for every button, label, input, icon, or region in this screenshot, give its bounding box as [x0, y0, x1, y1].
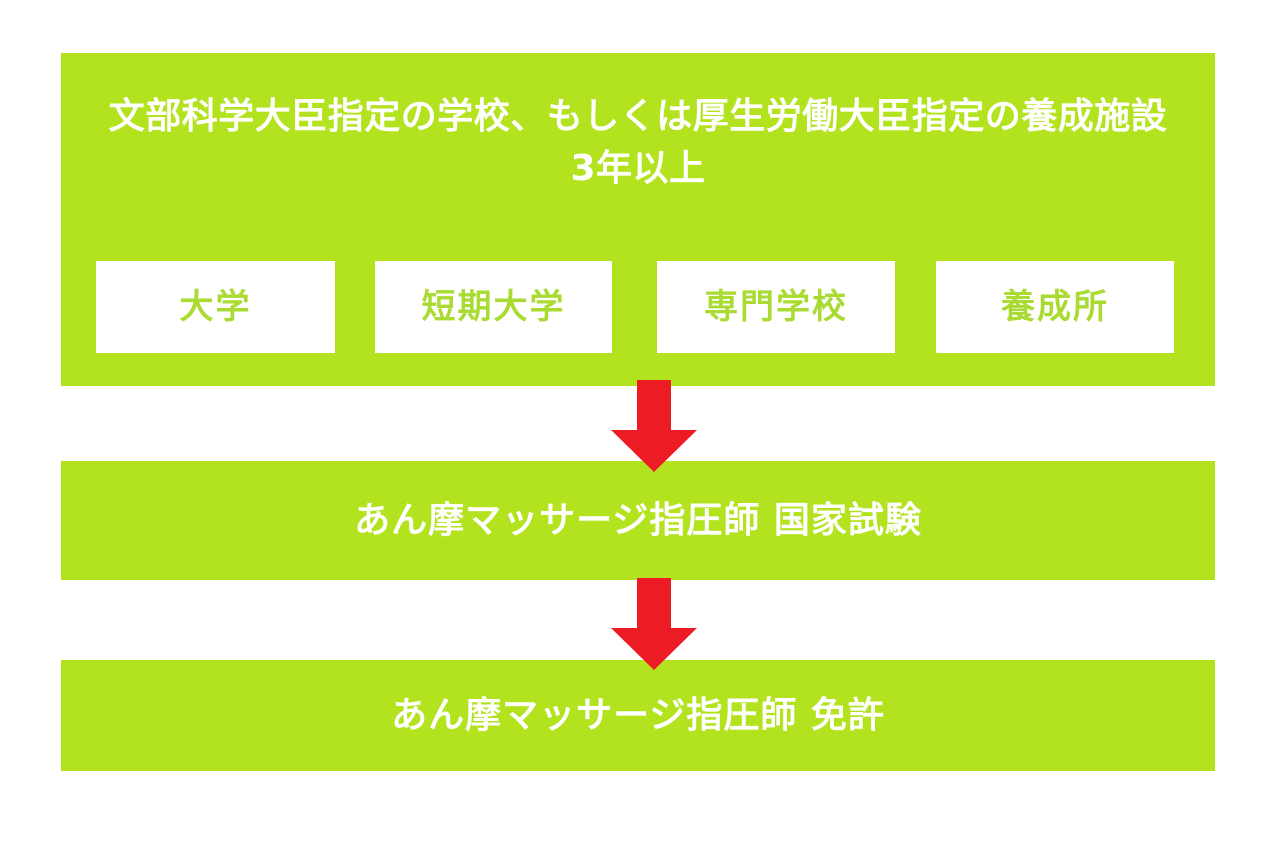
national-exam-label: あん摩マッサージ指圧師 国家試験: [61, 503, 1215, 539]
school-option-label: 養成所: [1001, 290, 1109, 324]
school-option-label: 専門学校: [704, 290, 848, 324]
school-option-university[interactable]: 大学: [96, 261, 335, 353]
arrow-down-icon: [611, 380, 697, 472]
school-requirement-heading: 文部科学大臣指定の学校、もしくは厚生労働大臣指定の養成施設 3年以上: [85, 91, 1191, 195]
school-option-junior-college[interactable]: 短期大学: [375, 261, 612, 353]
license-label: あん摩マッサージ指圧師 免許: [61, 698, 1215, 734]
diagram-canvas: 文部科学大臣指定の学校、もしくは厚生労働大臣指定の養成施設 3年以上 大学 短期…: [0, 0, 1280, 853]
school-option-training-facility[interactable]: 養成所: [936, 261, 1174, 353]
school-option-vocational-school[interactable]: 専門学校: [657, 261, 895, 353]
school-option-label: 大学: [180, 290, 252, 324]
national-exam-block: あん摩マッサージ指圧師 国家試験: [61, 461, 1215, 580]
license-block: あん摩マッサージ指圧師 免許: [61, 660, 1215, 771]
arrow-down-icon: [611, 578, 697, 670]
school-option-label: 短期大学: [422, 290, 566, 324]
